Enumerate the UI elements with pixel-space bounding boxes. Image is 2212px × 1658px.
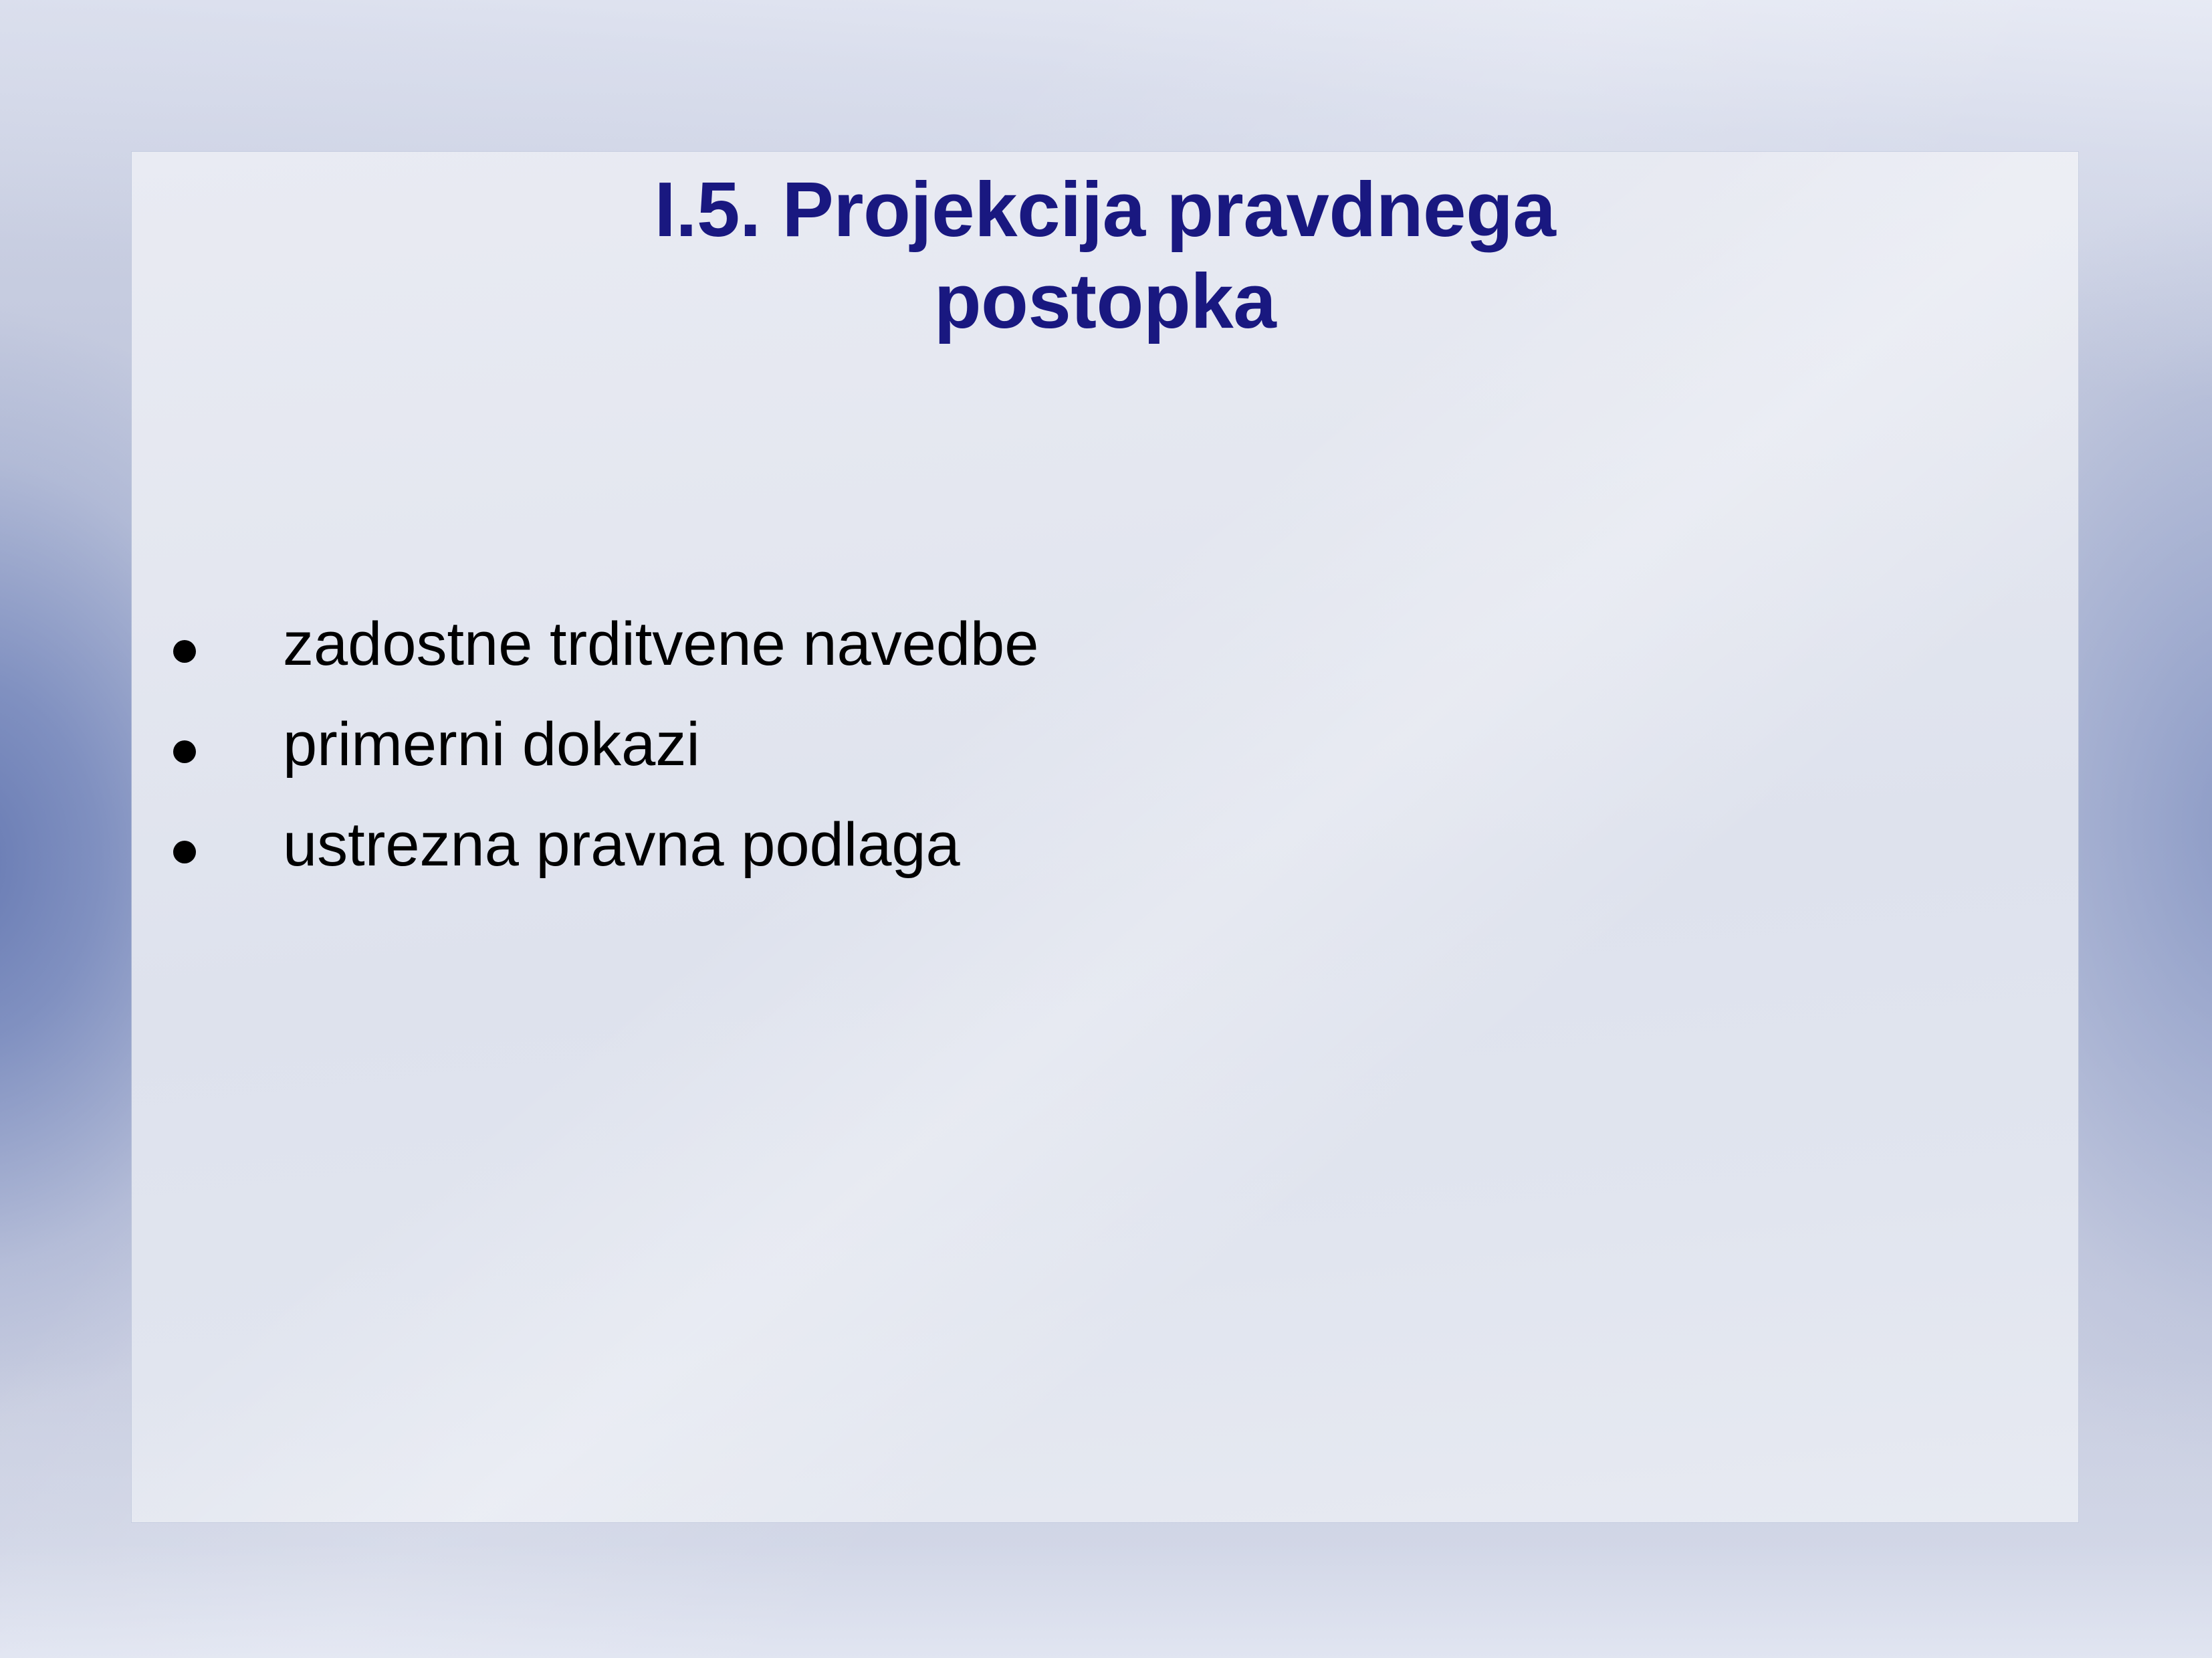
list-item: ustrezna pravna podlaga xyxy=(164,814,1969,877)
bullet-point-icon xyxy=(164,819,283,877)
bullet-point-icon xyxy=(164,619,283,676)
list-item-label: ustrezna pravna podlaga xyxy=(283,814,1969,877)
bullet-point-icon xyxy=(164,719,283,776)
list-item: zadostne trditvene navedbe xyxy=(164,613,1969,676)
slide-title-line-2: postopka xyxy=(212,255,1998,347)
list-item: primerni dokazi xyxy=(164,714,1969,776)
slide-content-panel: I.5. Projekcija pravdnega postopka zados… xyxy=(132,152,2078,1522)
slide-title-line-1: I.5. Projekcija pravdnega xyxy=(212,164,1998,255)
list-item-label: primerni dokazi xyxy=(283,714,1969,776)
slide-title: I.5. Projekcija pravdnega postopka xyxy=(132,164,2078,347)
list-item-label: zadostne trditvene navedbe xyxy=(283,613,1969,676)
slide-canvas: I.5. Projekcija pravdnega postopka zados… xyxy=(0,0,2212,1658)
bullet-list: zadostne trditvene navedbe primerni doka… xyxy=(164,613,1969,914)
